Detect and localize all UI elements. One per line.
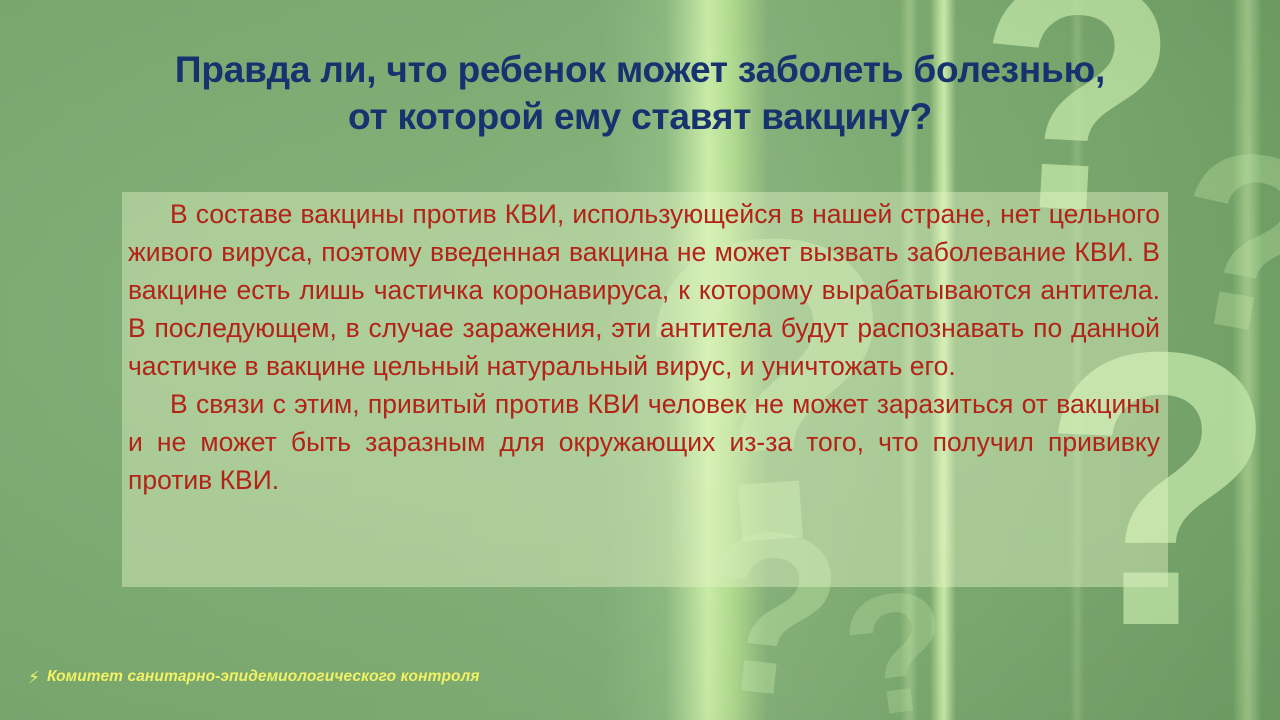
- body-paragraph-2: В связи с этим, привитый против КВИ чело…: [128, 385, 1160, 499]
- slide-canvas: ? ? ? ? ? ? Правда ли, что ребенок может…: [0, 0, 1280, 720]
- footer-label: Комитет санитарно-эпидемиологического ко…: [47, 668, 480, 686]
- slide-title-line-2: от которой ему ставят вакцину?: [60, 93, 1220, 140]
- footer: ⚡ Комитет санитарно-эпидемиологического …: [28, 668, 480, 686]
- slide-title: Правда ли, что ребенок может заболеть бо…: [60, 46, 1220, 141]
- body-paragraph-1: В составе вакцины против КВИ, использующ…: [128, 195, 1160, 385]
- slide-title-line-1: Правда ли, что ребенок может заболеть бо…: [60, 46, 1220, 93]
- lightning-bolt-icon: ⚡: [28, 669, 40, 686]
- background-streak-right: [1232, 0, 1262, 720]
- question-mark-watermark-icon: ?: [836, 578, 958, 720]
- body-text-block: В составе вакцины против КВИ, использующ…: [128, 195, 1160, 499]
- question-mark-watermark-icon: ?: [1158, 128, 1280, 356]
